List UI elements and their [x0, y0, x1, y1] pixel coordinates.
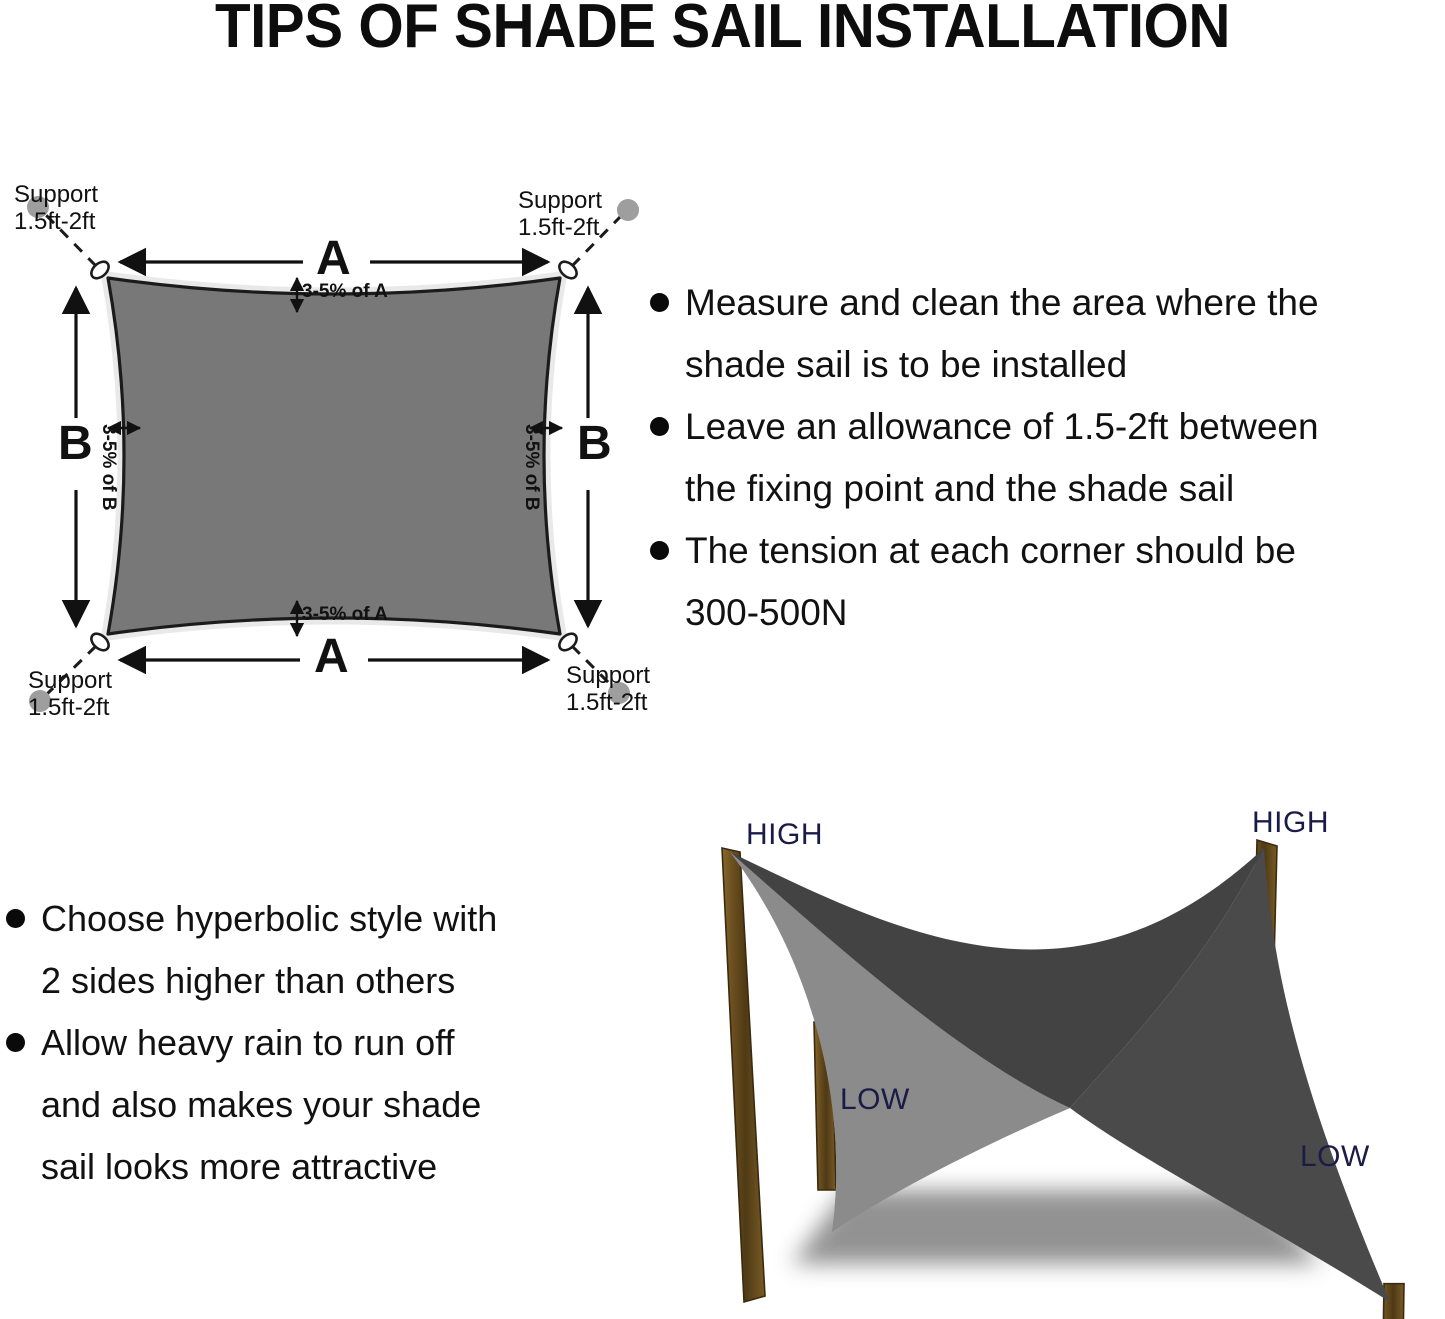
list-item-continuation: 300-500N: [650, 582, 1445, 644]
list-item-continuation: the fixing point and the shade sail: [650, 458, 1445, 520]
bullet-dot-icon: [650, 293, 669, 312]
bullet-spacer: [6, 1157, 25, 1176]
curvature-note-right: 3-5% of B: [521, 424, 542, 511]
list-item-line: Choose hyperbolic style with: [41, 888, 497, 950]
label-low-right: LOW: [1300, 1140, 1370, 1174]
list-item: Allow heavy rain to run off: [6, 1012, 636, 1074]
label-low-left: LOW: [840, 1083, 910, 1117]
list-item: Leave an allowance of 1.5-2ft between: [650, 396, 1445, 458]
infographic-page: TIPS OF SHADE SAIL INSTALLATION: [0, 0, 1445, 1319]
bullet-dot-icon: [650, 541, 669, 560]
dimension-letter-right-B: B: [577, 417, 612, 471]
support-label-top-right-line2: 1.5ft-2ft: [518, 215, 602, 242]
list-item-line: the fixing point and the shade sail: [685, 458, 1234, 520]
list-item: The tension at each corner should be: [650, 520, 1445, 582]
dimension-letter-left-B: B: [58, 417, 93, 471]
curvature-note-left: 3-5% of B: [98, 424, 119, 511]
dimension-letter-bottom-A: A: [314, 630, 349, 684]
support-label-bottom-right-line1: Support: [566, 663, 650, 690]
curvature-note-top: 3-5% of A: [302, 281, 388, 302]
support-label-bottom-left-line2: 1.5ft-2ft: [28, 695, 112, 722]
list-item-line: Leave an allowance of 1.5-2ft between: [685, 396, 1319, 458]
label-high-right: HIGH: [1252, 806, 1329, 840]
support-dot-top-right: [617, 199, 639, 221]
list-item-line: The tension at each corner should be: [685, 520, 1296, 582]
page-title: TIPS OF SHADE SAIL INSTALLATION: [43, 0, 1401, 58]
dimension-letter-top-A: A: [316, 232, 351, 286]
bullet-spacer: [6, 971, 25, 990]
bullet-spacer: [650, 355, 669, 374]
list-item-continuation: shade sail is to be installed: [650, 334, 1445, 396]
list-item-continuation: 2 sides higher than others: [6, 950, 636, 1012]
list-item-line: sail looks more attractive: [41, 1136, 437, 1198]
list-item-line: Measure and clean the area where the: [685, 272, 1319, 334]
list-item-continuation: and also makes your shade: [6, 1074, 636, 1136]
bullet-dot-icon: [650, 417, 669, 436]
bullet-spacer: [650, 603, 669, 622]
support-label-top-left-line1: Support: [14, 182, 98, 209]
post-high-left: [722, 848, 765, 1302]
list-item-line: 2 sides higher than others: [41, 950, 455, 1012]
hyperbolic-sail-graphics: [660, 790, 1445, 1319]
list-item-line: shade sail is to be installed: [685, 334, 1127, 396]
support-label-top-right-line1: Support: [518, 188, 602, 215]
support-label-bottom-right: Support 1.5ft-2ft: [566, 663, 650, 717]
bullet-dot-icon: [6, 1033, 25, 1052]
list-item-line: 300-500N: [685, 582, 848, 644]
support-label-bottom-right-line2: 1.5ft-2ft: [566, 690, 650, 717]
installation-tips-bottom-list: Choose hyperbolic style with 2 sides hig…: [6, 888, 636, 1198]
sail-body-group: [108, 278, 560, 634]
bullet-spacer: [6, 1095, 25, 1114]
list-item-line: Allow heavy rain to run off: [41, 1012, 455, 1074]
support-label-top-right: Support 1.5ft-2ft: [518, 188, 602, 242]
support-label-bottom-left: Support 1.5ft-2ft: [28, 668, 112, 722]
support-label-top-left: Support 1.5ft-2ft: [14, 182, 98, 236]
label-high-left: HIGH: [746, 818, 823, 852]
installation-tips-top-list: Measure and clean the area where the sha…: [650, 272, 1445, 644]
bullet-spacer: [650, 479, 669, 498]
curvature-note-bottom: 3-5% of A: [302, 604, 388, 625]
bullet-dot-icon: [6, 909, 25, 928]
list-item-line: and also makes your shade: [41, 1074, 481, 1136]
support-label-bottom-left-line1: Support: [28, 668, 112, 695]
support-label-top-left-line2: 1.5ft-2ft: [14, 209, 98, 236]
sail-body: [108, 278, 560, 634]
list-item-continuation: sail looks more attractive: [6, 1136, 636, 1198]
list-item: Measure and clean the area where the: [650, 272, 1445, 334]
list-item: Choose hyperbolic style with: [6, 888, 636, 950]
